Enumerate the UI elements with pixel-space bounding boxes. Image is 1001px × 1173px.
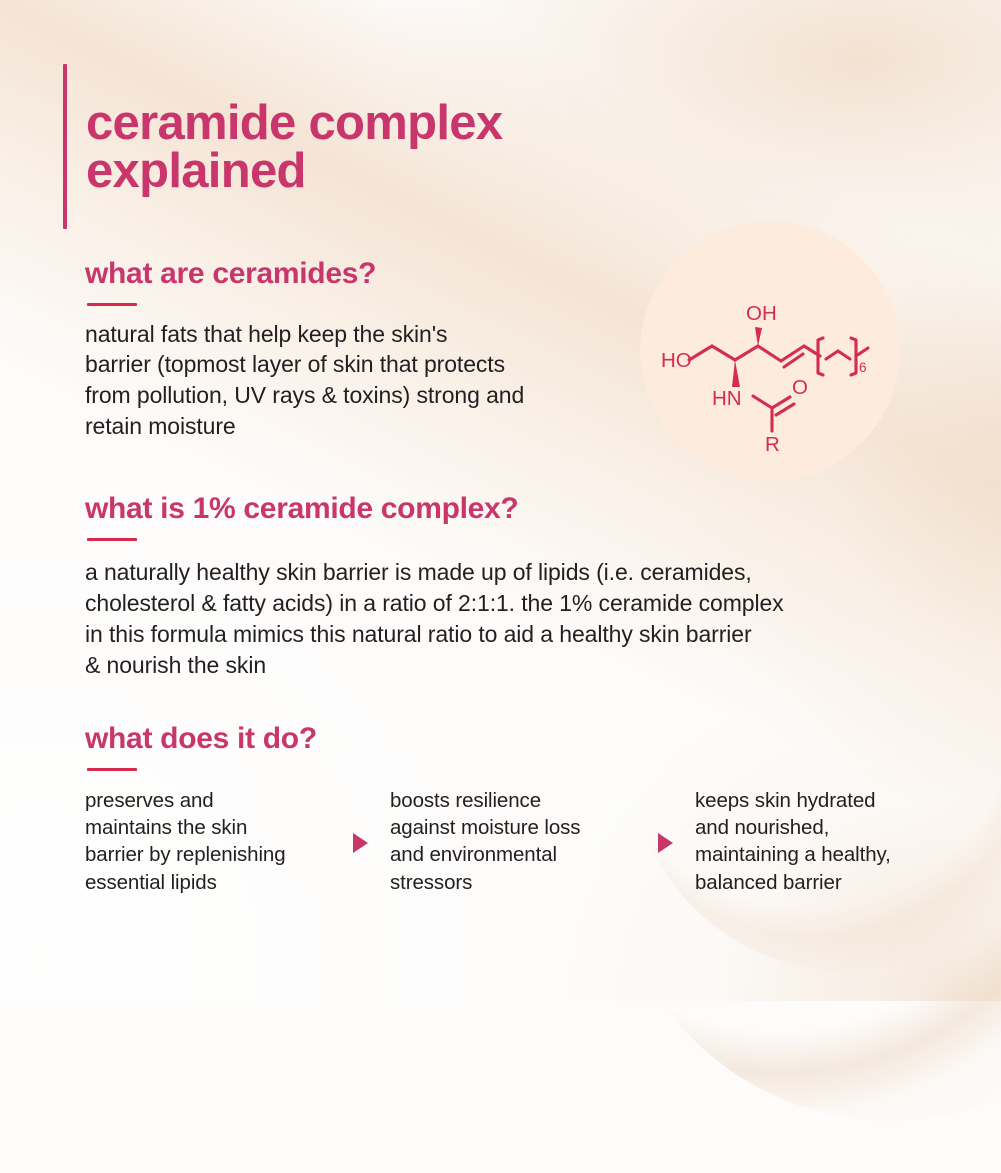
ceramide-structure-icon: HO OH HN O R 6: [640, 221, 900, 481]
benefit-columns: preserves and maintains the skin barrier…: [85, 787, 945, 897]
heading-underline-rule: [87, 538, 137, 541]
wedge-hydroxyl: [755, 327, 762, 346]
triangle-right-icon: [658, 833, 673, 853]
benefit-column-3: keeps skin hydrated and nourished, maint…: [695, 787, 945, 897]
molecule-label-hn: HN: [712, 387, 742, 410]
benefit-column-2: boosts resilience against moisture loss …: [390, 787, 635, 897]
molecule-label-r: R: [765, 433, 780, 456]
section-what-is-ceramide-complex: what is 1% ceramide complex? a naturally…: [85, 493, 875, 682]
section-body-what-are-ceramides: natural fats that help keep the skin's b…: [85, 319, 605, 443]
section-what-does-it-do: what does it do? preserves and maintains…: [85, 723, 945, 896]
molecule-label-oh: OH: [746, 302, 777, 325]
benefit-column-1: preserves and maintains the skin barrier…: [85, 787, 330, 897]
section-heading-what-is-ceramide-complex: what is 1% ceramide complex?: [85, 493, 875, 525]
page-title: ceramide complex explained: [86, 97, 502, 196]
heading-underline-rule: [87, 768, 137, 771]
triangle-right-icon: [353, 833, 368, 853]
column-separator-2: [635, 829, 695, 853]
section-heading-what-are-ceramides: what are ceramides?: [85, 258, 605, 290]
molecule-label-o: O: [792, 376, 808, 399]
page-title-block: ceramide complex explained: [63, 64, 502, 229]
heading-underline-rule: [87, 303, 137, 306]
title-accent-bar: [63, 64, 67, 229]
section-heading-what-does-it-do: what does it do?: [85, 723, 945, 755]
column-separator-1: [330, 829, 390, 853]
molecule-label-subscript-6: 6: [859, 360, 867, 375]
section-body-what-is-ceramide-complex: a naturally healthy skin barrier is made…: [85, 557, 875, 682]
wedge-amine: [732, 360, 740, 387]
section-what-are-ceramides: what are ceramides? natural fats that he…: [85, 258, 605, 442]
molecule-label-ho: HO: [661, 349, 692, 372]
